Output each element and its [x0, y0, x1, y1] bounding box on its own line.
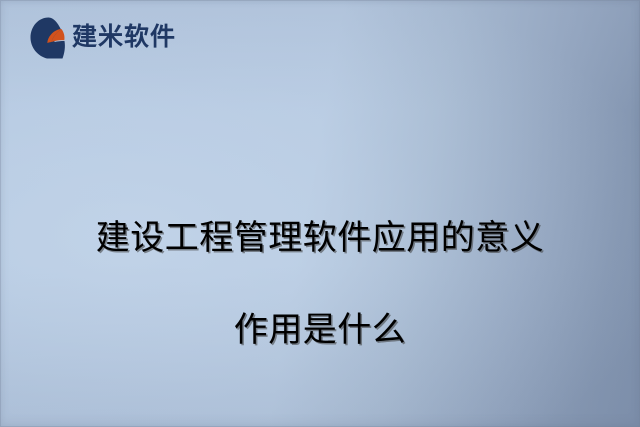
brand-logo[interactable]: 建米软件 [28, 16, 176, 60]
page-title: 建设工程管理软件应用的意义 作用是什么 [0, 170, 640, 400]
article-cover-banner: 建米软件 建设工程管理软件应用的意义 作用是什么 [0, 0, 640, 427]
jianmi-swoosh-logo-icon [28, 16, 68, 60]
brand-name-text: 建米软件 [72, 25, 176, 52]
page-title-line-1: 建设工程管理软件应用的意义 [0, 216, 640, 262]
page-title-line-2: 作用是什么 [0, 308, 640, 354]
